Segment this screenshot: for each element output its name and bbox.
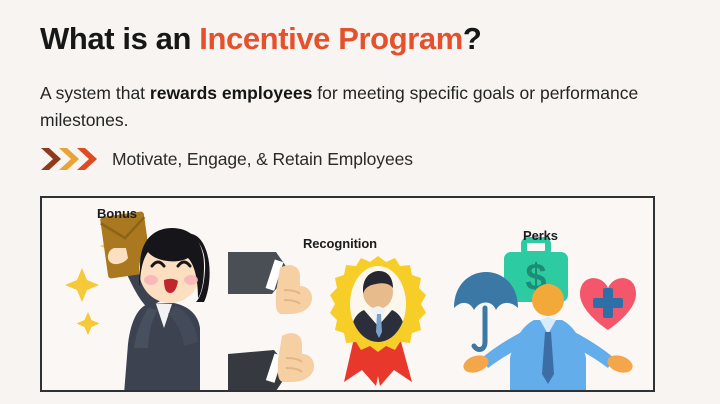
description-part-1: A system that	[40, 83, 150, 103]
illustration-canvas: $	[42, 198, 653, 390]
star-icon-2	[77, 312, 100, 335]
recognition-badge-illustration	[326, 254, 430, 392]
thumbs-up-icon-1	[228, 252, 312, 314]
star-icon-1	[65, 268, 99, 302]
label-bonus: Bonus	[97, 206, 137, 221]
title-lead: What is an	[40, 21, 199, 56]
tagline-row: Motivate, Engage, & Retain Employees	[40, 146, 413, 172]
title-accent: Incentive Program	[199, 21, 463, 56]
perks-illustration: $	[448, 234, 648, 392]
title-trail: ?	[463, 21, 482, 56]
slide-canvas: What is an Incentive Program? A system t…	[0, 0, 720, 404]
heart-plus-icon	[580, 278, 636, 330]
tagline-label: Motivate, Engage, & Retain Employees	[112, 149, 413, 170]
chevron-right-icon-3	[76, 146, 98, 172]
head	[139, 228, 210, 303]
description-text: A system that rewards employees for meet…	[40, 80, 640, 133]
chevron-group-icon	[40, 146, 98, 172]
description-strong: rewards employees	[150, 83, 312, 103]
umbrella-icon	[454, 272, 518, 349]
page-title: What is an Incentive Program?	[40, 22, 481, 56]
label-perks: Perks	[523, 228, 558, 243]
illustration-panel: $	[40, 196, 655, 392]
thumbs-up-icon-2	[228, 333, 314, 392]
label-recognition: Recognition	[303, 236, 377, 251]
